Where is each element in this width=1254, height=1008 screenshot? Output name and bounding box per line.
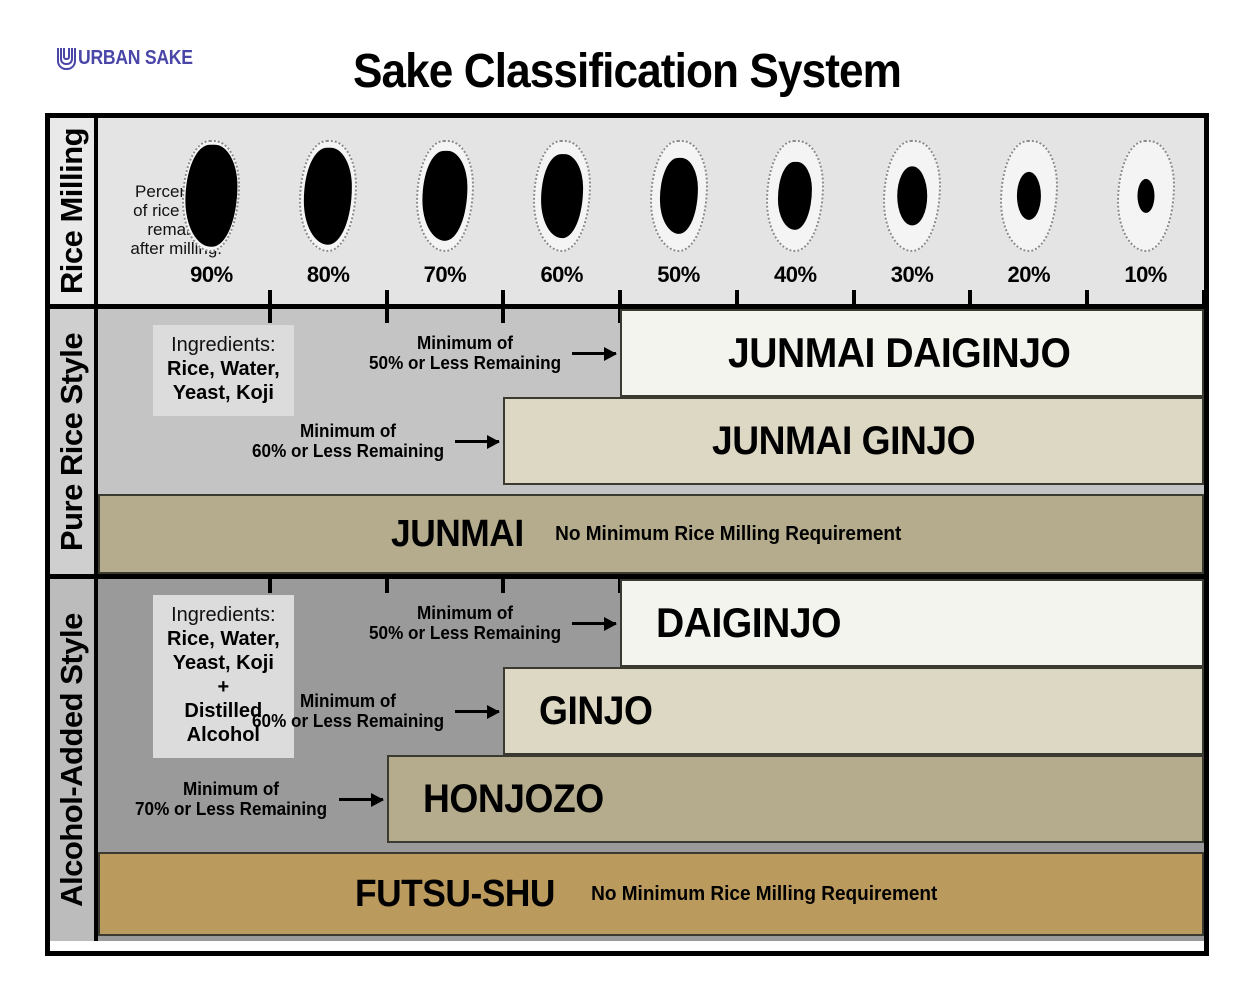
callout-line: Minimum of <box>252 691 444 711</box>
callout-line: 70% or Less Remaining <box>136 799 328 819</box>
rice-grain-icon <box>648 132 710 260</box>
ingredients-line: Rice, Water, <box>167 357 280 381</box>
alcohol-added-side-label: Alcohol-Added Style <box>50 579 98 941</box>
alcohol-added-style-band: Alcohol-Added Style Ingredients: Rice, W… <box>50 574 1204 941</box>
threshold-callout: Minimum of70% or Less Remaining <box>130 779 382 819</box>
rice-grain-icon <box>1115 132 1177 260</box>
classification-bar[interactable]: FUTSU-SHUNo Minimum Rice Milling Require… <box>98 852 1204 936</box>
axis-tick <box>618 290 622 304</box>
ingredients-line: Yeast, Koji <box>167 381 280 405</box>
classification-bar[interactable]: DAIGINJO <box>620 579 1204 667</box>
axis-tick <box>1085 290 1089 304</box>
classification-name: JUNMAI <box>391 513 524 556</box>
classification-name: JUNMAI GINJO <box>712 419 975 464</box>
callout-line: 50% or Less Remaining <box>369 623 561 643</box>
ingredients-heading: Ingredients: <box>167 333 280 357</box>
callout-line: 50% or Less Remaining <box>369 353 561 373</box>
grain-percent-label: 40% <box>764 262 826 288</box>
alcohol-added-body: Ingredients: Rice, Water, Yeast, Koji + … <box>98 579 1204 941</box>
axis-tick <box>852 290 856 304</box>
rice-grain-icon <box>998 132 1060 260</box>
callout-line: 60% or Less Remaining <box>252 441 444 461</box>
classification-bar[interactable]: GINJO <box>503 667 1204 755</box>
classification-name: JUNMAI DAIGINJO <box>728 329 1070 377</box>
classification-bar[interactable]: JUNMAI DAIGINJO <box>620 309 1204 397</box>
grain-column: 20% <box>998 132 1060 288</box>
callout-text: Minimum of60% or Less Remaining <box>252 421 444 461</box>
rice-milling-band: Rice Milling Percentage of rice grain re… <box>50 118 1204 304</box>
rice-milling-side-label: Rice Milling <box>50 118 98 304</box>
grain-percent-label: 90% <box>180 262 242 288</box>
grain-column: 50% <box>648 132 710 288</box>
callout-line: Minimum of <box>369 603 561 623</box>
ingredients-line: Rice, Water, <box>167 627 280 651</box>
threshold-callout: Minimum of50% or Less Remaining <box>364 603 616 643</box>
rice-grain-icon <box>531 132 593 260</box>
grain-percent-label: 10% <box>1115 262 1177 288</box>
grain-column: 60% <box>531 132 593 288</box>
ingredients-box-alcohol-added: Ingredients: Rice, Water, Yeast, Koji + … <box>153 595 294 758</box>
callout-line: 60% or Less Remaining <box>252 711 444 731</box>
page-title: Sake Classification System <box>50 44 1204 99</box>
callout-line: Minimum of <box>369 333 561 353</box>
classification-name: FUTSU-SHU <box>355 873 555 916</box>
classification-name: HONJOZO <box>423 777 604 822</box>
callout-text: Minimum of50% or Less Remaining <box>369 603 561 643</box>
classification-note: No Minimum Rice Milling Requirement <box>591 883 937 906</box>
grain-percent-label: 50% <box>648 262 710 288</box>
pure-rice-side-label: Pure Rice Style <box>50 309 98 574</box>
grain-percent-label: 30% <box>881 262 943 288</box>
axis-tick <box>501 290 505 304</box>
rice-grain-icon <box>180 132 242 260</box>
axis-tick <box>735 290 739 304</box>
classification-name: GINJO <box>539 689 652 734</box>
rice-grain-icon <box>297 132 359 260</box>
callout-arrow-icon <box>339 798 383 801</box>
rice-grain-icon <box>764 132 826 260</box>
classification-bar[interactable]: HONJOZO <box>387 755 1204 843</box>
grain-column: 10% <box>1115 132 1177 288</box>
grain-column: 40% <box>764 132 826 288</box>
pure-rice-style-band: Pure Rice Style Ingredients: Rice, Water… <box>50 304 1204 574</box>
axis-tick <box>268 579 272 593</box>
threshold-callout: Minimum of50% or Less Remaining <box>364 333 616 373</box>
callout-text: Minimum of70% or Less Remaining <box>136 779 328 819</box>
grain-percent-label: 60% <box>531 262 593 288</box>
callout-text: Minimum of50% or Less Remaining <box>369 333 561 373</box>
callout-arrow-icon <box>572 352 616 355</box>
callout-arrow-icon <box>572 622 616 625</box>
threshold-callout: Minimum of60% or Less Remaining <box>247 421 499 461</box>
threshold-callout: Minimum of60% or Less Remaining <box>247 691 499 731</box>
classification-name: DAIGINJO <box>656 599 841 647</box>
grain-percent-label: 70% <box>414 262 476 288</box>
rice-grain-icon <box>414 132 476 260</box>
axis-tick <box>501 579 505 593</box>
axis-tick <box>268 290 272 304</box>
grain-column: 70% <box>414 132 476 288</box>
classification-bar[interactable]: JUNMAI GINJO <box>503 397 1204 485</box>
grain-column: 80% <box>297 132 359 288</box>
classification-bar[interactable]: JUNMAINo Minimum Rice Milling Requiremen… <box>98 494 1204 574</box>
header: URBAN SAKE Sake Classification System <box>0 0 1254 112</box>
rice-milling-body: Percentage of rice grain remaining after… <box>98 118 1204 304</box>
callout-line: Minimum of <box>136 779 328 799</box>
axis-tick <box>1202 290 1204 304</box>
axis-tick <box>968 290 972 304</box>
grain-column: 90% <box>180 132 242 288</box>
ingredients-box-pure-rice: Ingredients: Rice, Water, Yeast, Koji <box>153 325 294 416</box>
classification-note: No Minimum Rice Milling Requirement <box>555 523 901 546</box>
axis-tick <box>385 290 389 304</box>
ingredients-heading: Ingredients: <box>167 603 280 627</box>
ingredients-line: Yeast, Koji <box>167 651 280 675</box>
axis-tick <box>501 309 505 323</box>
grain-percent-label: 20% <box>998 262 1060 288</box>
callout-arrow-icon <box>455 440 499 443</box>
axis-tick <box>268 309 272 323</box>
callout-text: Minimum of60% or Less Remaining <box>252 691 444 731</box>
pure-rice-body: Ingredients: Rice, Water, Yeast, Koji JU… <box>98 309 1204 574</box>
grain-percent-label: 80% <box>297 262 359 288</box>
axis-tick <box>385 579 389 593</box>
callout-arrow-icon <box>455 710 499 713</box>
axis-tick <box>385 309 389 323</box>
grain-column: 30% <box>881 132 943 288</box>
callout-line: Minimum of <box>252 421 444 441</box>
rice-grain-icon <box>881 132 943 260</box>
classification-chart: Rice Milling Percentage of rice grain re… <box>45 113 1209 956</box>
